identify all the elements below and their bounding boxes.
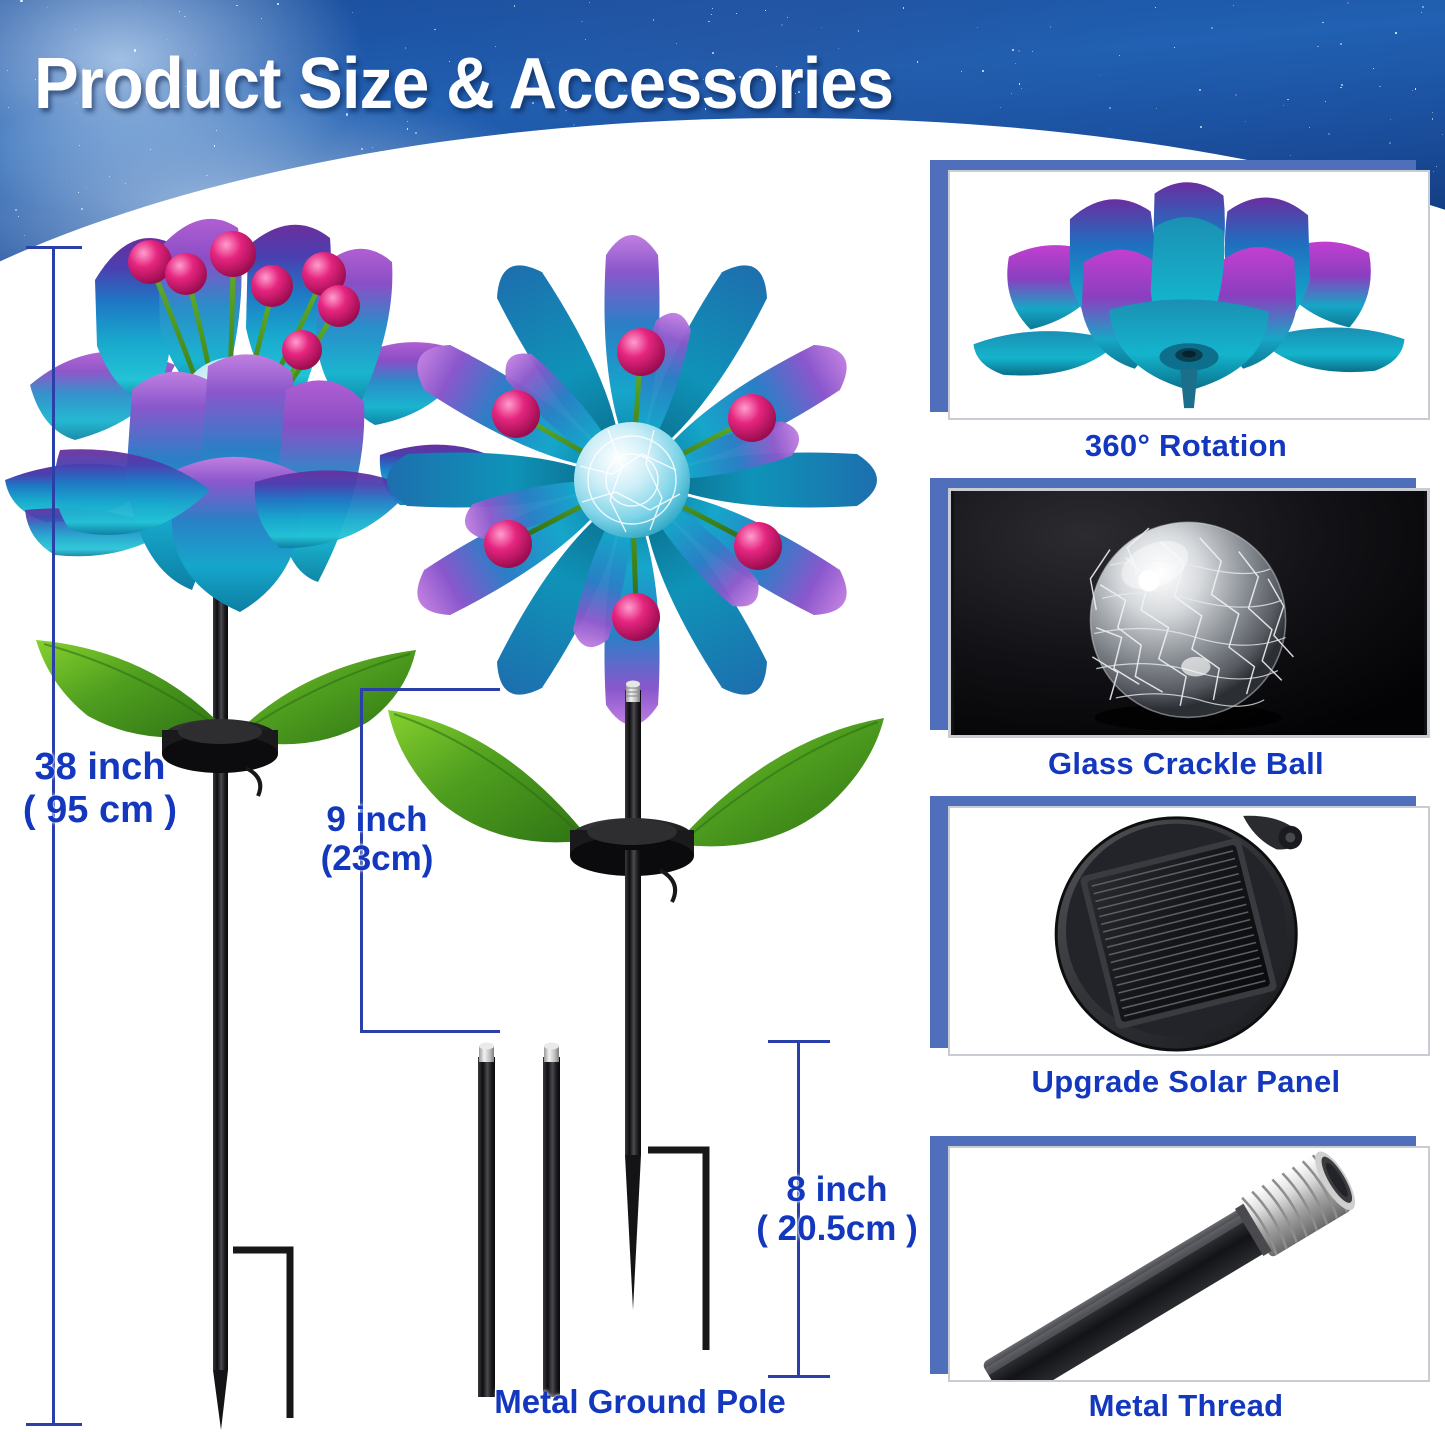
glass-crackle-ball-icon bbox=[951, 491, 1427, 735]
glass-crackle-ball-center-front bbox=[574, 422, 690, 538]
page-title: Product Size & Accessories bbox=[34, 48, 1187, 120]
lotus-flower-top-view-icon bbox=[950, 172, 1428, 418]
infographic-canvas: Product Size & Accessories bbox=[0, 0, 1445, 1432]
dim-line bbox=[52, 246, 55, 1426]
dimension-value-line2: ( 20.5cm ) bbox=[742, 1209, 932, 1248]
dim-arm-top bbox=[360, 688, 500, 691]
metal-ground-poles bbox=[478, 1043, 560, 1398]
panel-image-frame bbox=[948, 170, 1430, 420]
dim-tick-bottom bbox=[768, 1375, 830, 1378]
panel-image-frame bbox=[948, 806, 1430, 1056]
dim-tick-bottom bbox=[26, 1423, 82, 1426]
metal-ground-pole-label: Metal Ground Pole bbox=[430, 1384, 850, 1421]
dimension-value-line1: 9 inch bbox=[282, 800, 472, 839]
threaded-pole-end-icon bbox=[950, 1148, 1428, 1380]
dimension-value-line2: ( 95 cm ) bbox=[0, 789, 200, 832]
dim-arm-bottom bbox=[360, 1030, 500, 1033]
panel-caption: 360° Rotation bbox=[930, 428, 1442, 464]
dimension-value-line1: 8 inch bbox=[742, 1170, 932, 1209]
panel-image-frame bbox=[948, 1146, 1430, 1382]
dimension-value-line1: 38 inch bbox=[0, 746, 200, 789]
panel-caption: Upgrade Solar Panel bbox=[930, 1064, 1442, 1100]
solar-panel-icon bbox=[950, 808, 1428, 1054]
panel-caption: Glass Crackle Ball bbox=[930, 746, 1442, 782]
dimension-value-line2: (23cm) bbox=[282, 839, 472, 878]
threaded-top bbox=[626, 681, 640, 703]
panel-caption: Metal Thread bbox=[930, 1388, 1442, 1424]
panel-image-frame bbox=[948, 488, 1430, 738]
